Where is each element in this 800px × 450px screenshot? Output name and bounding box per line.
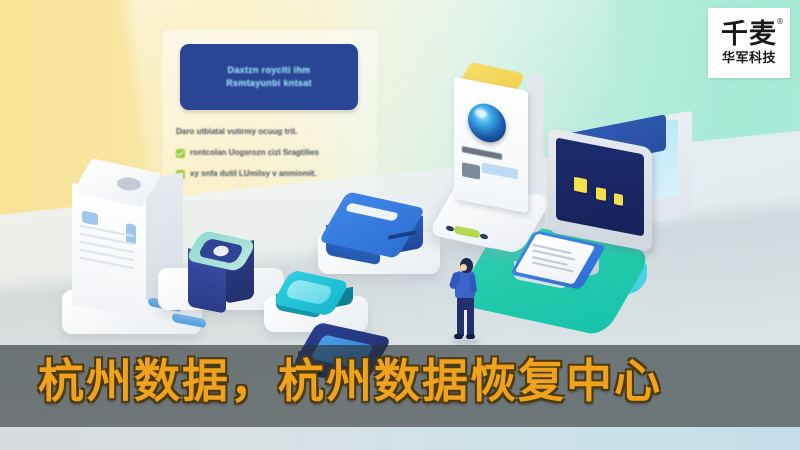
list-item: rontcolan Uogsrozn cizl Sragtilies [176,147,366,159]
info-card: Daxtzn royciti ihm Rsmtayunbi kntsat Dar… [162,30,377,200]
list-item: xy snfa dutil LUmilsy v anmiomit. [176,168,366,180]
person-leg-split [464,310,467,336]
document-tray [508,238,628,324]
registered-mark-icon: ® [776,18,785,26]
person-shadow [452,338,480,345]
blue-storage-device [182,236,270,328]
logo-main-text: 千麦 ® [721,21,777,48]
logo-sub-label: 华军科技 [722,52,776,65]
promo-image-canvas: 千麦 ® 华军科技 Daxtzn royciti ihm Rsmtayunbi … [0,0,800,450]
banner-text: Daxtzn royciti ihm Rsmtayunbi kntsat [226,64,312,90]
file-icon [574,177,587,194]
check-icon [176,149,185,158]
blue-external-hard-drive [320,200,448,286]
bottom-strip [0,427,800,450]
list-item-label: xy snfa dutil LUmilsy v anmiomit. [190,168,317,180]
banner-text-line-2: Rsmtayunbi kntsat [226,78,312,88]
person-arm-right [469,275,477,294]
info-card-banner: Daxtzn royciti ihm Rsmtayunbi kntsat [180,44,358,110]
person-shoe-right [466,334,475,339]
banner-text-line-1: Daxtzn royciti ihm [228,65,311,75]
technician-person [448,258,484,344]
list-item-label: rontcolan Uogsrozn cizl Sragtilies [190,147,319,159]
logo-main-label: 千麦 [721,19,777,50]
list-item-label: Daro utbiatal vutirmy ocuug trit. [176,126,297,138]
folder-document-side [527,72,543,195]
person-shoe-left [454,334,463,339]
caption-title: 杭州数据，杭州数据恢复中心 [0,352,800,410]
file-icon [596,187,606,201]
list-item: Daro utbiatal vutirmy ocuug trit. [176,126,366,138]
person-hand [460,264,467,271]
folder-document [454,77,528,213]
brand-logo: 千麦 ® 华军科技 [708,8,790,78]
file-icon [614,193,623,206]
info-card-list: Daro utbiatal vutirmy ocuug trit. rontco… [176,126,366,189]
